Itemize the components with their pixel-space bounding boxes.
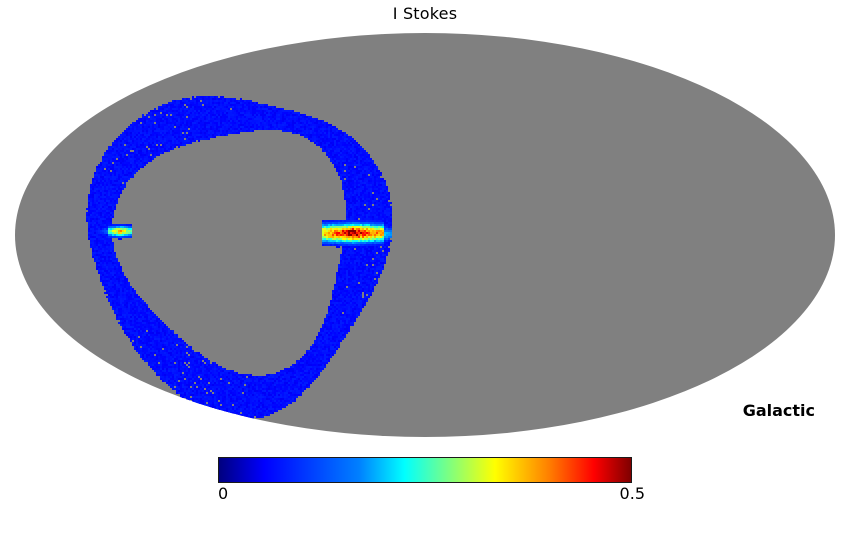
- colorbar-ticks: 0 0.5: [218, 484, 632, 504]
- unseen-sky-ellipse: [15, 33, 835, 437]
- colorbar-min-label: 0: [218, 484, 228, 503]
- colorbar[interactable]: 0 0.5: [218, 457, 632, 504]
- colorbar-max-label: 0.5: [620, 484, 645, 503]
- sky-map-figure: I Stokes Galactic 0 0.5: [0, 0, 850, 540]
- coordinate-system-label: Galactic: [743, 401, 815, 420]
- colorbar-gradient[interactable]: [218, 457, 632, 483]
